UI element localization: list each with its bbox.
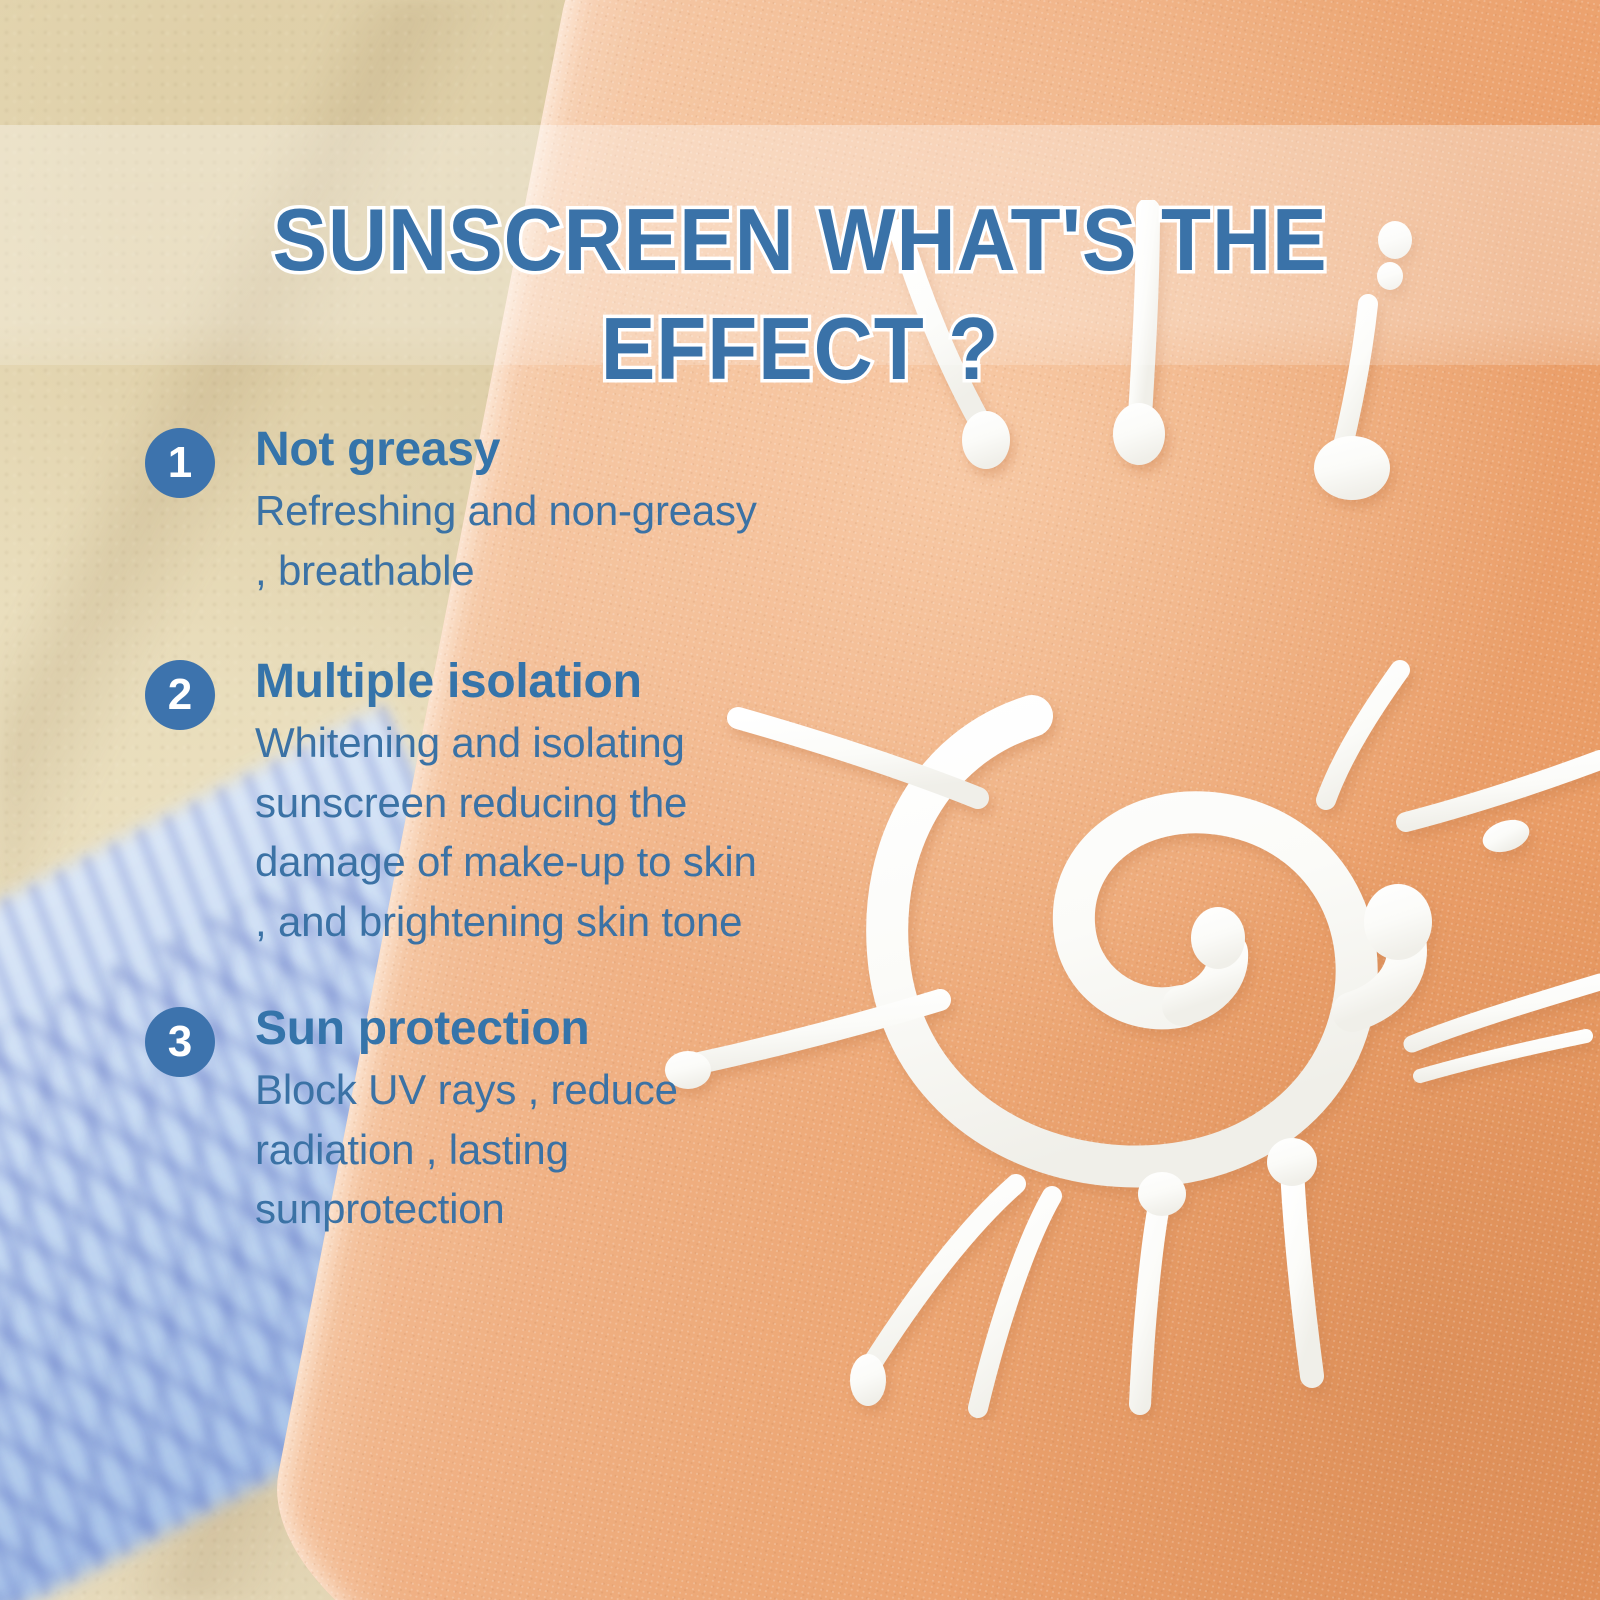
feature-title-1: Not greasy: [255, 425, 820, 475]
feature-item-1: 1 Not greasy Refreshing and non-greasy ,…: [0, 425, 820, 601]
feature-title-2: Multiple isolation: [255, 657, 820, 707]
feature-title-3: Sun protection: [255, 1004, 820, 1054]
page-title: SUNSCREEN WHAT'S THE EFFECT ?: [140, 185, 1461, 403]
feature-body-2: Whitening and isolating sunscreen reduci…: [255, 713, 775, 952]
title-line-2: EFFECT ?: [140, 294, 1461, 403]
sunscreen-poster: SUNSCREEN WHAT'S THE EFFECT ? 1 Not grea…: [0, 0, 1600, 1600]
feature-body-3: Block UV rays , reduce radiation , lasti…: [255, 1060, 775, 1239]
feature-item-3: 3 Sun protection Block UV rays , reduce …: [0, 1004, 820, 1239]
title-line-1: SUNSCREEN WHAT'S THE: [140, 185, 1461, 294]
feature-item-2: 2 Multiple isolation Whitening and isola…: [0, 657, 820, 952]
feature-body-1: Refreshing and non-greasy , breathable: [255, 481, 775, 600]
feature-number-badge-3: 3: [145, 1007, 215, 1077]
feature-list: 1 Not greasy Refreshing and non-greasy ,…: [0, 425, 820, 1279]
feature-number-badge-2: 2: [145, 660, 215, 730]
feature-number-badge-1: 1: [145, 428, 215, 498]
